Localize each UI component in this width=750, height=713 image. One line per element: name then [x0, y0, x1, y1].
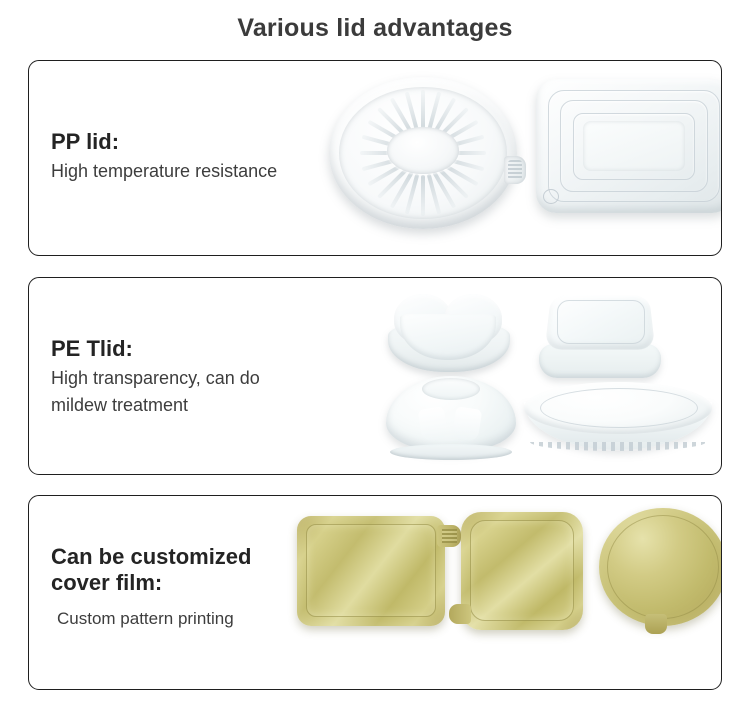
pet-dome-lid-facet-left [418, 406, 449, 442]
gold-foil-square-tab [449, 604, 471, 624]
pet-dome-lid-facet-right [452, 406, 483, 442]
gold-foil-round-inner-ridge [607, 515, 719, 619]
pp-rect-lid-ridge-outer [548, 90, 721, 203]
pp-rect-lid-notch [543, 189, 559, 204]
cover-film-text-block: Can be customized cover film: Custom pat… [51, 544, 251, 632]
pet-square-lid-dome [545, 296, 656, 350]
pet-lid-text-block: PE Tlid: High transparency, can do milde… [51, 336, 260, 419]
pet-dome-lid-rim [390, 444, 512, 460]
pet-dome-lid-cap [386, 376, 516, 452]
page-title: Various lid advantages [0, 0, 750, 45]
pp-rect-lid-center-plate [583, 121, 685, 172]
pp-rect-lid-ridge-inner [573, 113, 695, 180]
pet-oval-lid-image [524, 382, 712, 452]
pp-round-lid-center-hub [387, 127, 458, 174]
pet-oval-lid-serrated-edge [530, 442, 706, 451]
panel-cover-film: Can be customized cover film: Custom pat… [28, 495, 722, 690]
pp-rect-lid-shell [536, 79, 722, 213]
gold-foil-rectangular-lid-image [297, 516, 445, 626]
gold-foil-square-lid-image [461, 512, 583, 630]
pet-heart-lid-image [386, 294, 512, 382]
pet-oval-lid-top [524, 382, 712, 434]
pet-oval-lid-skirt [524, 402, 712, 450]
cover-film-heading: Can be customized cover film: [51, 544, 251, 596]
pet-heart-lid-base [388, 320, 510, 372]
pet-dome-lid-top-circle [422, 378, 480, 400]
gold-foil-square-body [461, 512, 583, 630]
pet-square-lid-base [539, 344, 661, 378]
pet-lid-heading: PE Tlid: [51, 336, 260, 362]
cover-film-subtext: Custom pattern printing [51, 605, 251, 632]
pet-lid-subtext: High transparency, can do mildew treatme… [51, 365, 260, 419]
pp-lid-text-block: PP lid: High temperature resistance [51, 129, 277, 185]
pp-lid-heading: PP lid: [51, 129, 277, 155]
pp-lid-subtext: High temperature resistance [51, 158, 277, 185]
panel-pet-lid: PE Tlid: High transparency, can do milde… [28, 277, 722, 475]
pet-dome-lid-image [386, 376, 516, 460]
pp-rect-lid-ridge-middle [560, 100, 709, 191]
pp-round-lid-image [329, 77, 517, 229]
gold-foil-rect-body [297, 516, 445, 626]
pp-round-lid-ribs [329, 77, 517, 229]
pp-round-lid-tab [504, 156, 526, 184]
pp-round-lid-rim [329, 77, 517, 229]
gold-foil-rect-tab [437, 525, 461, 547]
gold-foil-round-body [599, 508, 722, 626]
pet-heart-lid-lobes [394, 294, 502, 354]
panel-pp-lid: PP lid: High temperature resistance [28, 60, 722, 256]
pp-round-lid-inner-rim [339, 87, 506, 219]
pet-square-lid-image [539, 292, 661, 378]
gold-foil-rect-inner-ridge [306, 524, 436, 617]
gold-foil-round-lid-image [599, 508, 722, 634]
pet-square-lid-inner-ridge [557, 300, 645, 344]
pp-rectangular-lid-image [536, 79, 722, 213]
gold-foil-round-tab [645, 614, 667, 634]
pet-heart-lid-point [400, 314, 496, 360]
gold-foil-square-inner-ridge [470, 520, 574, 621]
pet-oval-lid-inner-ridge [540, 388, 698, 428]
